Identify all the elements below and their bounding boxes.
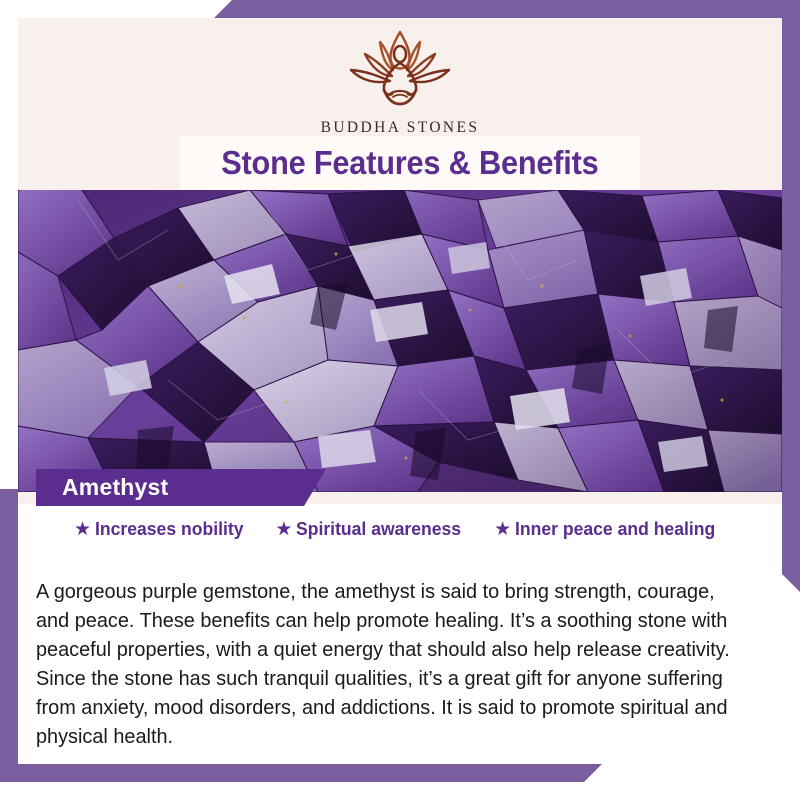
star-icon: ★ — [74, 520, 91, 539]
amethyst-crystal-photo — [18, 190, 782, 492]
lotus-meditation-icon — [18, 26, 782, 117]
benefit-item: ★ Inner peace and healing — [494, 518, 726, 540]
benefit-label: Inner peace and healing — [515, 518, 715, 540]
stone-name: Amethyst — [62, 474, 168, 501]
brand-name: BUDDHA STONES — [18, 119, 782, 137]
stone-name-banner: Amethyst — [36, 469, 326, 506]
infographic-card: BUDDHA STONES Stone Features & Benefits — [18, 18, 782, 764]
benefit-label: Increases nobility — [95, 518, 243, 540]
benefits-list: ★ Increases nobility ★ Spiritual awarene… — [18, 518, 782, 540]
benefit-item: ★ Increases nobility — [74, 518, 251, 540]
star-icon: ★ — [275, 520, 292, 539]
brand-header: BUDDHA STONES Stone Features & Benefits — [18, 18, 782, 190]
benefit-label: Spiritual awareness — [296, 518, 461, 540]
content-section: ★ Increases nobility ★ Spiritual awarene… — [18, 492, 782, 764]
stone-description: A gorgeous purple gemstone, the amethyst… — [36, 577, 748, 751]
brand-logo: BUDDHA STONES — [18, 26, 782, 137]
stone-benefits-infographic: BUDDHA STONES Stone Features & Benefits — [0, 0, 800, 800]
title-band: Stone Features & Benefits — [180, 136, 640, 190]
frame-accent-right — [782, 0, 800, 592]
star-icon: ★ — [494, 520, 511, 539]
page-title: Stone Features & Benefits — [221, 144, 598, 182]
frame-accent-top — [214, 0, 800, 18]
frame-accent-left — [0, 489, 18, 782]
benefit-item: ★ Spiritual awareness — [275, 518, 470, 540]
frame-accent-bottom — [0, 764, 602, 782]
